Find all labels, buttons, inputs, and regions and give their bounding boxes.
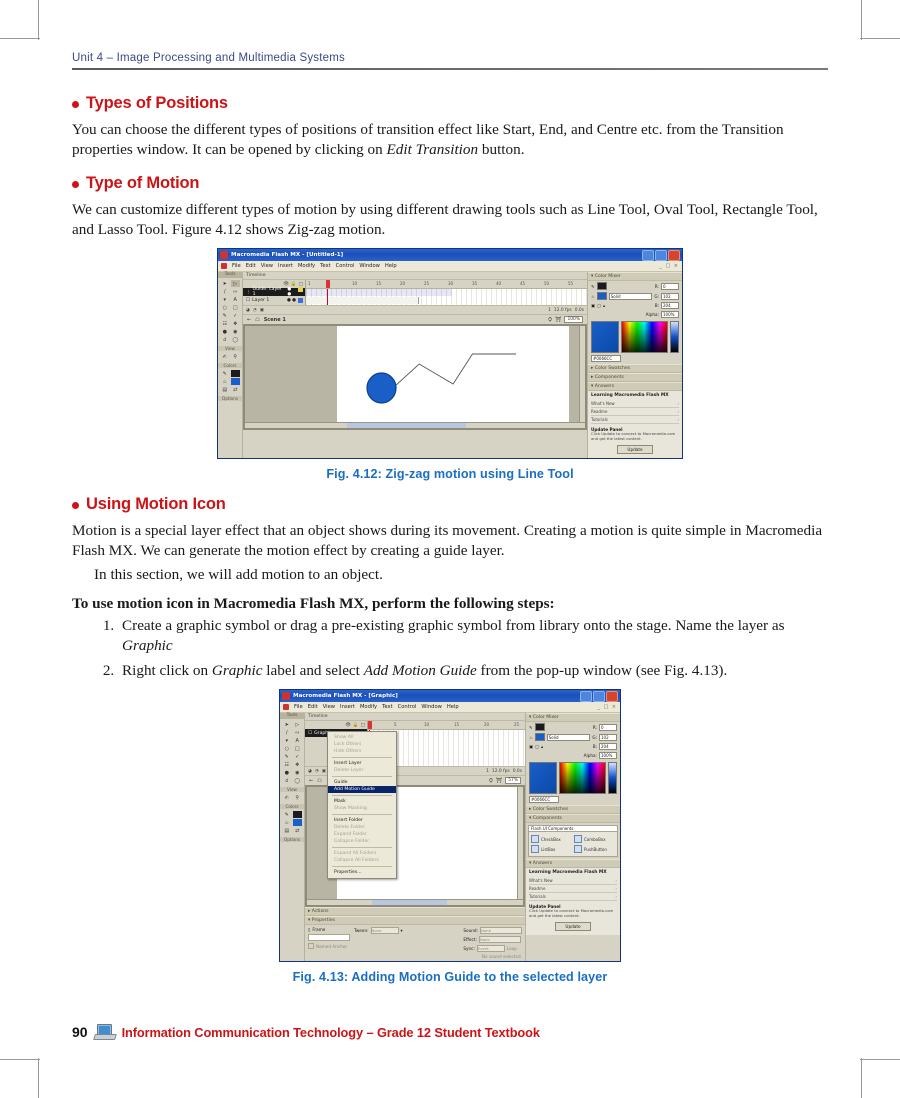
onion-skin-icon[interactable]: ◕ bbox=[246, 308, 250, 313]
answers-link-whats-new[interactable]: What's New› bbox=[591, 400, 679, 408]
context-menu-item-insert-folder[interactable]: Insert Folder bbox=[328, 817, 396, 824]
outline-icon[interactable]: □ bbox=[361, 723, 365, 728]
eyedropper-tool-icon[interactable]: ☌ bbox=[282, 777, 292, 784]
crop-mark-bottom-right-v bbox=[861, 1058, 862, 1098]
update-button[interactable]: Update bbox=[555, 922, 591, 931]
no-color-icon[interactable]: ▴ bbox=[541, 744, 543, 749]
answers-link-readme[interactable]: Readme› bbox=[591, 408, 679, 416]
paragraph-in-this-section: In this section, we will add motion to a… bbox=[72, 565, 828, 585]
mixer-options-row[interactable]: ▣ ▢ ▴ B: 204 bbox=[588, 301, 682, 310]
step-text-italic2: Add Motion Guide bbox=[364, 662, 477, 679]
menu-control[interactable]: Control bbox=[336, 263, 355, 269]
layer-name: Layer 1 bbox=[252, 298, 269, 303]
stroke-swatch-icon[interactable] bbox=[231, 370, 241, 377]
ink-bottle-tool-icon[interactable]: ● bbox=[282, 769, 292, 776]
chevron-right-icon: › bbox=[615, 878, 617, 883]
scene-bar: ← ☖ Scene 1 ⛭ ⛩ 100% bbox=[243, 314, 587, 324]
alpha-value[interactable]: 100% bbox=[599, 752, 617, 759]
frame-column[interactable]: 1 5 10 15 20 25 30 35 40 45 bbox=[306, 280, 587, 305]
zoom-level[interactable]: 57% bbox=[505, 777, 521, 784]
menu-edit[interactable]: Edit bbox=[246, 263, 256, 269]
b-value[interactable]: 204 bbox=[599, 743, 617, 750]
color-mixer-panel-header[interactable]: ▾ Color Mixer bbox=[588, 272, 682, 281]
effect-row[interactable]: Effect: None bbox=[463, 936, 522, 943]
update-button[interactable]: Update bbox=[617, 445, 653, 454]
named-anchor-row[interactable]: Named Anchor bbox=[308, 943, 350, 949]
color-tools[interactable]: ✎ ♨ ▤ ⇄ bbox=[218, 368, 242, 395]
menu-file[interactable]: File bbox=[294, 704, 303, 710]
panel-title: Answers bbox=[595, 384, 614, 389]
context-menu-item-show-all[interactable]: Show All bbox=[328, 734, 396, 741]
footer-text: Information Communication Technology – G… bbox=[122, 1025, 540, 1040]
document-icon bbox=[283, 704, 289, 710]
tools-palette: Tools ➤ ▷ / ∾ ▾ A ○ □ ✎ ✓ ☷ bbox=[218, 272, 243, 458]
section-heading-types-of-positions: Types of Positions bbox=[72, 94, 828, 113]
subselect-tool-icon[interactable]: ▷ bbox=[293, 721, 303, 728]
b-label: B: bbox=[655, 303, 659, 308]
menu-file[interactable]: File bbox=[232, 263, 241, 269]
mixer-options-row[interactable]: ▣ ▢ ▴ B: 204 bbox=[526, 742, 620, 751]
mixer-fill-row[interactable]: ♨ Solid G: 102 bbox=[588, 291, 682, 301]
answers-link-tutorials[interactable]: Tutorials› bbox=[591, 416, 679, 424]
edit-multiple-icon[interactable]: ▣ bbox=[260, 308, 264, 313]
components-grid[interactable]: CheckBox ComboBox ListBox PushButton bbox=[529, 832, 617, 856]
playhead-marker[interactable] bbox=[326, 280, 330, 288]
eye-icon[interactable]: 👁 bbox=[283, 282, 289, 287]
menu-modify[interactable]: Modify bbox=[298, 263, 315, 269]
color-mixer-panel-header[interactable]: ▾ Color Mixer bbox=[526, 713, 620, 722]
menu-view[interactable]: View bbox=[261, 263, 273, 269]
sound-column: Sound: None Effect: None Sync: Event bbox=[463, 927, 522, 959]
color-spectrum[interactable] bbox=[621, 321, 668, 353]
line-tool-icon[interactable]: / bbox=[220, 288, 230, 295]
computer-icon bbox=[94, 1024, 116, 1040]
context-menu-item-delete-layer[interactable]: Delete Layer bbox=[328, 767, 396, 774]
maximize-icon[interactable] bbox=[655, 250, 667, 261]
lock-icon[interactable]: 🔒 bbox=[291, 282, 297, 287]
maximize-icon[interactable] bbox=[593, 691, 605, 702]
fill-transform-tool-icon[interactable]: ❖ bbox=[293, 761, 303, 768]
components-panel-header[interactable]: ▾ Components bbox=[526, 814, 620, 823]
panel-title: Components bbox=[595, 375, 624, 380]
components-panel-header[interactable]: ▸ Components bbox=[588, 373, 682, 382]
r-value[interactable]: 0 bbox=[661, 283, 679, 290]
effect-select[interactable]: None bbox=[479, 936, 521, 943]
stroke-pencil-icon[interactable]: ✎ bbox=[529, 725, 533, 730]
menu-text[interactable]: Text bbox=[320, 263, 331, 269]
mixer-alpha-row[interactable]: Alpha: 100% bbox=[526, 751, 620, 760]
r-value[interactable]: 0 bbox=[599, 724, 617, 731]
stroke-color-icon[interactable]: ✎ bbox=[220, 370, 230, 377]
tween-select[interactable]: None bbox=[371, 927, 399, 934]
answers-link-tutorials[interactable]: Tutorials› bbox=[529, 893, 617, 901]
chevron-down-icon[interactable]: ▾ bbox=[401, 928, 403, 933]
menu-view[interactable]: View bbox=[323, 704, 335, 710]
g-value[interactable]: 102 bbox=[661, 293, 679, 300]
scene-icon: ☖ bbox=[317, 778, 321, 784]
zoom-tool-icon[interactable]: ⚲ bbox=[231, 353, 241, 360]
component-listbox[interactable]: ListBox bbox=[531, 845, 572, 853]
ruler-tick: 10 bbox=[352, 281, 357, 286]
chevron-right-icon: › bbox=[677, 409, 679, 414]
actions-panel-header[interactable]: ▸ Actions bbox=[305, 907, 525, 916]
color-tools[interactable]: ✎ ♨ ▤ ⇄ bbox=[280, 809, 304, 836]
scrollbar-thumb[interactable] bbox=[372, 900, 448, 905]
window-body: Tools ➤ ▷ / ∾ ▾ A ○ □ ✎ ✓ ☷ bbox=[218, 272, 682, 458]
lasso-tool-icon[interactable]: ∾ bbox=[231, 288, 241, 295]
paint-bucket-tool-icon[interactable]: ◉ bbox=[293, 769, 303, 776]
menu-text[interactable]: Text bbox=[382, 704, 393, 710]
answers-panel-body: Learning Macromedia Flash MX What's New›… bbox=[526, 868, 620, 935]
stage-vertical-scrollbar[interactable] bbox=[517, 787, 523, 899]
current-frame: 1 bbox=[548, 308, 551, 313]
fill-type-select[interactable]: Solid bbox=[609, 293, 653, 300]
zoom-level[interactable]: 100% bbox=[564, 316, 583, 323]
title-bar: Macromedia Flash MX - [Graphic] bbox=[280, 690, 620, 702]
onion-outline-icon[interactable]: ◔ bbox=[253, 308, 257, 313]
rectangle-tool-icon[interactable]: □ bbox=[231, 304, 241, 311]
context-menu-item-delete-folder[interactable]: Delete Folder bbox=[328, 824, 396, 831]
menu-separator bbox=[332, 866, 392, 867]
crop-mark-top-left-v bbox=[38, 0, 39, 40]
running-header: Unit 4 – Image Processing and Multimedia… bbox=[72, 52, 828, 70]
scrollbar-thumb[interactable] bbox=[347, 423, 466, 428]
pushbutton-icon bbox=[574, 845, 582, 853]
onion-outline-icon[interactable]: ◔ bbox=[315, 769, 319, 774]
swap-colors-icon[interactable]: ▣ bbox=[591, 303, 595, 308]
color-swatches-panel-header[interactable]: ▸ Color Swatches bbox=[526, 805, 620, 814]
answers-link-readme[interactable]: Readme› bbox=[529, 885, 617, 893]
scene-name: Scene 1 bbox=[264, 317, 286, 323]
tween-row[interactable]: Tween: None ▾ bbox=[354, 927, 403, 934]
pen-tool-icon[interactable]: ▾ bbox=[282, 737, 292, 744]
layer-context-menu[interactable]: Show All Lock Others Hide Others Insert … bbox=[327, 731, 397, 879]
frame-name-input[interactable] bbox=[308, 934, 350, 941]
right-panel-group: ▾ Color Mixer ✎ R: 0 ♨ Solid G: bbox=[587, 272, 682, 458]
context-menu-item-collapse-all-folders[interactable]: Collapse All Folders bbox=[328, 857, 396, 864]
fill-color-swatch[interactable] bbox=[597, 292, 607, 300]
stage-right-pasteboard bbox=[569, 326, 579, 422]
menu-window[interactable]: Window bbox=[359, 263, 379, 269]
color-picker-area[interactable] bbox=[526, 760, 620, 796]
fill-bucket-icon[interactable]: ♨ bbox=[591, 294, 595, 299]
view-tools[interactable]: ✍ ⚲ bbox=[218, 351, 242, 362]
frame-rate: 12.0 fps bbox=[492, 769, 510, 774]
answers-panel-header[interactable]: ▾ Answers bbox=[588, 382, 682, 391]
pencil-tool-icon[interactable]: ✎ bbox=[220, 312, 230, 319]
edit-scene-icon[interactable]: ⛭ bbox=[489, 778, 493, 784]
arrow-tool-icon[interactable]: ➤ bbox=[282, 721, 292, 728]
tool-grid[interactable]: ➤ ▷ / ∾ ▾ A ○ □ ✎ ✓ ☷ ❖ ● bbox=[218, 278, 242, 345]
current-color-preview bbox=[591, 321, 619, 353]
layer-toggles[interactable]: ● ● bbox=[287, 287, 305, 297]
edit-symbol-icon[interactable]: ⛩ bbox=[555, 317, 561, 323]
fill-bucket-icon[interactable]: ♨ bbox=[529, 735, 533, 740]
minimize-icon[interactable] bbox=[580, 691, 592, 702]
context-menu-item-collapse-folder[interactable]: Collapse Folder bbox=[328, 838, 396, 845]
context-menu-item-lock-others[interactable]: Lock Others bbox=[328, 741, 396, 748]
chevron-right-icon: › bbox=[677, 401, 679, 406]
paragraph-type-of-motion: We can customize different types of moti… bbox=[72, 200, 828, 240]
fill-color-icon[interactable]: ♨ bbox=[282, 819, 292, 826]
context-menu-item-expand-all-folders[interactable]: Expand All Folders bbox=[328, 850, 396, 857]
stage-vertical-scrollbar[interactable] bbox=[579, 326, 585, 422]
edit-scene-icon[interactable]: ⛭ bbox=[548, 317, 552, 323]
eraser-tool-icon[interactable]: ◯ bbox=[231, 336, 241, 343]
oval-tool-icon[interactable]: ○ bbox=[282, 745, 292, 752]
mixer-stroke-row[interactable]: ✎ R: 0 bbox=[588, 281, 682, 291]
lock-icon[interactable]: 🔒 bbox=[353, 723, 359, 728]
panel-title: Properties bbox=[312, 918, 335, 923]
text-tool-icon[interactable]: A bbox=[231, 296, 241, 303]
ruler-tick: 55 bbox=[568, 281, 573, 286]
free-transform-tool-icon[interactable]: ☷ bbox=[220, 320, 230, 327]
step-text-mid: label and select bbox=[262, 662, 363, 679]
line-tool-icon[interactable]: / bbox=[282, 729, 292, 736]
menu-control[interactable]: Control bbox=[398, 704, 417, 710]
swap-colors-icon[interactable]: ▣ bbox=[529, 744, 533, 749]
brush-tool-icon[interactable]: ✓ bbox=[231, 312, 241, 319]
menu-window[interactable]: Window bbox=[421, 704, 441, 710]
color-spectrum[interactable] bbox=[559, 762, 606, 794]
context-menu-item-expand-folder[interactable]: Expand Folder bbox=[328, 831, 396, 838]
document-icon bbox=[221, 263, 227, 269]
context-menu-item-hide-others[interactable]: Hide Others bbox=[328, 748, 396, 755]
context-menu-item-properties[interactable]: Properties... bbox=[328, 869, 396, 876]
menu-separator bbox=[332, 847, 392, 848]
header-rule bbox=[72, 68, 828, 70]
alpha-label: Alpha: bbox=[584, 753, 597, 758]
brightness-bar[interactable] bbox=[670, 321, 679, 353]
mixer-fill-row[interactable]: ♨ Solid G: 102 bbox=[526, 732, 620, 742]
frame-ruler[interactable]: 1 5 10 15 20 25 30 bbox=[368, 721, 525, 730]
frames-area[interactable] bbox=[306, 289, 587, 305]
figure-4-12-caption: Fig. 4.12: Zig-zag motion using Line Too… bbox=[72, 467, 828, 481]
menu-edit[interactable]: Edit bbox=[308, 704, 318, 710]
sound-select[interactable]: None bbox=[480, 927, 522, 934]
frame-label: Frame bbox=[312, 927, 325, 932]
close-icon[interactable] bbox=[606, 691, 618, 702]
subselect-tool-icon[interactable]: ▷ bbox=[231, 280, 241, 287]
crop-mark-top-right-v bbox=[861, 0, 862, 40]
sound-label: Sound: bbox=[463, 928, 478, 933]
panel-title: Color Mixer bbox=[533, 715, 559, 720]
stage-horizontal-scrollbar[interactable] bbox=[245, 422, 585, 428]
panel-title: Components bbox=[533, 816, 562, 821]
component-pushbutton[interactable]: PushButton bbox=[574, 845, 615, 853]
layer1-frames[interactable] bbox=[306, 297, 419, 304]
rectangle-tool-icon[interactable]: □ bbox=[293, 745, 303, 752]
layer-toggles[interactable]: ● ● bbox=[287, 298, 305, 303]
layer-row-guide[interactable]: ⋮ Guide: Layer 1 ● ● bbox=[243, 288, 305, 296]
heading-text: Type of Motion bbox=[86, 174, 199, 193]
color-swatches-panel-header[interactable]: ▸ Color Swatches bbox=[588, 364, 682, 373]
fill-color-swatch[interactable] bbox=[535, 733, 545, 741]
stroke-pencil-icon[interactable]: ✎ bbox=[591, 284, 595, 289]
hand-tool-icon[interactable]: ✍ bbox=[220, 353, 230, 360]
fill-color-icon[interactable]: ♨ bbox=[220, 378, 230, 385]
back-arrow-icon[interactable]: ← bbox=[309, 778, 313, 784]
color-picker-area[interactable] bbox=[588, 319, 682, 355]
pen-tool-icon[interactable]: ▾ bbox=[220, 296, 230, 303]
default-colors-icon[interactable]: ▢ bbox=[535, 744, 539, 749]
stroke-color-swatch[interactable] bbox=[535, 723, 545, 731]
hand-tool-icon[interactable]: ✍ bbox=[282, 794, 292, 801]
sound-row[interactable]: Sound: None bbox=[463, 927, 522, 934]
window-buttons[interactable] bbox=[580, 691, 618, 702]
paint-bucket-tool-icon[interactable]: ◉ bbox=[231, 328, 241, 335]
fill-type-select[interactable]: Solid bbox=[547, 734, 591, 741]
step-text-post: from the pop-up window (see Fig. 4.13). bbox=[477, 662, 728, 679]
menu-insert[interactable]: Insert bbox=[278, 263, 293, 269]
doc-window-buttons[interactable]: _ □ × bbox=[659, 263, 679, 269]
stroke-color-swatch[interactable] bbox=[597, 282, 607, 290]
menu-help[interactable]: Help bbox=[385, 263, 397, 269]
mixer-alpha-row[interactable]: Alpha: 100% bbox=[588, 310, 682, 319]
lasso-tool-icon[interactable]: ∾ bbox=[293, 729, 303, 736]
layer-icon: ☐ bbox=[246, 298, 250, 303]
black-white-icon[interactable]: ▤ bbox=[220, 386, 230, 393]
stage-horizontal-scrollbar[interactable] bbox=[307, 899, 523, 905]
ink-bottle-tool-icon[interactable]: ● bbox=[220, 328, 230, 335]
no-color-icon[interactable]: ▴ bbox=[603, 303, 605, 308]
menu-insert[interactable]: Insert bbox=[340, 704, 355, 710]
arrow-tool-icon[interactable]: ➤ bbox=[220, 280, 230, 287]
timeline-panel-label: Timeline bbox=[305, 713, 525, 721]
context-menu-item-insert-layer[interactable]: Insert Layer bbox=[328, 760, 396, 767]
stroke-swatch-icon[interactable] bbox=[293, 811, 303, 818]
free-transform-tool-icon[interactable]: ☷ bbox=[282, 761, 292, 768]
answers-panel-header[interactable]: ▾ Answers bbox=[526, 859, 620, 868]
edit-symbol-icon[interactable]: ⛩ bbox=[496, 778, 502, 784]
fill-transform-tool-icon[interactable]: ❖ bbox=[231, 320, 241, 327]
eraser-tool-icon[interactable]: ◯ bbox=[293, 777, 303, 784]
g-label: G: bbox=[654, 294, 659, 299]
minimize-icon[interactable] bbox=[642, 250, 654, 261]
fill-swatch-icon[interactable] bbox=[293, 819, 303, 826]
sync-row[interactable]: Sync: Event Loop bbox=[463, 945, 522, 952]
flash-app-icon bbox=[282, 692, 290, 700]
elapsed-time: 0.0s bbox=[513, 769, 522, 774]
named-anchor-checkbox[interactable] bbox=[308, 943, 314, 949]
running-head-text: Unit 4 – Image Processing and Multimedia… bbox=[72, 52, 828, 64]
stage[interactable] bbox=[245, 326, 585, 422]
onion-skin-icon[interactable]: ◕ bbox=[308, 769, 312, 774]
zigzag-line bbox=[395, 354, 516, 386]
window-title: Macromedia Flash MX - [Graphic] bbox=[293, 693, 398, 699]
list-item: Right click on Graphic label and select … bbox=[118, 661, 828, 681]
steps-list: Create a graphic symbol or drag a pre-ex… bbox=[72, 616, 828, 681]
answers-link-whats-new[interactable]: What's New› bbox=[529, 877, 617, 885]
alpha-value[interactable]: 100% bbox=[661, 311, 679, 318]
hex-value-field[interactable]: #0066CC bbox=[529, 796, 559, 803]
frame-props-column: ▯ Frame Named Anchor bbox=[308, 927, 350, 959]
eyedropper-tool-icon[interactable]: ☌ bbox=[220, 336, 230, 343]
alpha-label: Alpha: bbox=[646, 312, 659, 317]
brightness-bar[interactable] bbox=[608, 762, 617, 794]
context-menu-item-guide[interactable]: Guide bbox=[328, 779, 396, 786]
brush-tool-icon[interactable]: ✓ bbox=[293, 753, 303, 760]
mixer-stroke-row[interactable]: ✎ R: 0 bbox=[526, 722, 620, 732]
black-white-icon[interactable]: ▤ bbox=[282, 827, 292, 834]
sync-select[interactable]: Event bbox=[477, 945, 505, 952]
stroke-color-icon[interactable]: ✎ bbox=[282, 811, 292, 818]
page-number: 90 bbox=[72, 1024, 88, 1040]
panel-title: Answers bbox=[533, 861, 552, 866]
ruler-tick: 45 bbox=[520, 281, 525, 286]
paragraph-types-of-positions: You can choose the different types of po… bbox=[72, 120, 828, 160]
tool-grid[interactable]: ➤ ▷ / ∾ ▾ A ○ □ ✎ ✓ ☷ ❖ ● bbox=[280, 719, 304, 786]
update-panel-desc: Click Update to connect to Macromedia.co… bbox=[529, 909, 617, 919]
eye-icon[interactable]: 👁 bbox=[345, 723, 351, 728]
doc-window-buttons[interactable]: _ □ × bbox=[597, 704, 617, 710]
options-section-label: Options bbox=[218, 396, 242, 401]
no-sound-row: No sound selected. bbox=[463, 954, 522, 959]
figure-4-13-container: Macromedia Flash MX - [Graphic] File Edi… bbox=[72, 689, 828, 962]
chevron-right-icon: › bbox=[615, 894, 617, 899]
zoom-tool-icon[interactable]: ⚲ bbox=[293, 794, 303, 801]
edit-multiple-icon[interactable]: ▣ bbox=[322, 769, 326, 774]
window-buttons[interactable] bbox=[642, 250, 680, 261]
context-menu-item-show-masking[interactable]: Show Masking bbox=[328, 805, 396, 812]
text-tool-icon[interactable]: A bbox=[293, 737, 303, 744]
view-tools[interactable]: ✍ ⚲ bbox=[280, 792, 304, 803]
outline-icon[interactable]: □ bbox=[299, 282, 303, 287]
component-combobox[interactable]: ComboBox bbox=[574, 835, 615, 843]
panel-title: Actions bbox=[312, 909, 329, 914]
b-value[interactable]: 204 bbox=[661, 302, 679, 309]
swap-colors-icon[interactable]: ⇄ bbox=[293, 827, 303, 834]
hex-value-field[interactable]: #0066CC bbox=[591, 355, 621, 362]
scene-bar-right[interactable]: ⛭ ⛩ 100% bbox=[548, 316, 583, 323]
timeline-footer[interactable]: ◕ ◔ ▣ 1 12.0 fps 0.0s bbox=[243, 305, 587, 314]
tween-label: Tween: bbox=[354, 928, 369, 933]
oval-tool-icon[interactable]: ○ bbox=[220, 304, 230, 311]
default-colors-icon[interactable]: ▢ bbox=[597, 303, 601, 308]
layer-icon: ☐ bbox=[308, 731, 312, 736]
crop-mark-bottom-left-h bbox=[0, 1059, 40, 1060]
playhead-marker[interactable] bbox=[368, 721, 372, 729]
fill-swatch-icon[interactable] bbox=[231, 378, 241, 385]
menu-separator bbox=[332, 814, 392, 815]
pencil-tool-icon[interactable]: ✎ bbox=[282, 753, 292, 760]
zigzag-drawing bbox=[337, 326, 569, 422]
ruler-tick: 25 bbox=[514, 722, 519, 727]
layer-row-layer1[interactable]: ☐ Layer 1 ● ● bbox=[243, 296, 305, 304]
scene-bar-right[interactable]: ⛭ ⛩ 57% bbox=[489, 777, 521, 784]
frame-ruler[interactable]: 1 5 10 15 20 25 30 35 40 45 bbox=[306, 280, 587, 289]
g-value[interactable]: 102 bbox=[599, 734, 617, 741]
swap-colors-icon[interactable]: ⇄ bbox=[231, 386, 241, 393]
menu-bar[interactable]: File Edit View Insert Modify Text Contro… bbox=[280, 702, 620, 713]
back-arrow-icon[interactable]: ← bbox=[247, 317, 251, 323]
ruler-tick: 20 bbox=[400, 281, 405, 286]
menu-bar[interactable]: File Edit View Insert Modify Text Contro… bbox=[218, 261, 682, 272]
close-icon[interactable] bbox=[668, 250, 680, 261]
properties-panel-header[interactable]: ▾ Properties bbox=[305, 916, 525, 925]
checkbox-icon bbox=[531, 835, 539, 843]
menu-modify[interactable]: Modify bbox=[360, 704, 377, 710]
stage-canvas[interactable] bbox=[337, 326, 569, 422]
loop-label: Loop bbox=[507, 946, 517, 951]
bullet-icon bbox=[72, 502, 79, 509]
frame-name-row[interactable] bbox=[308, 934, 350, 941]
combobox-icon bbox=[574, 835, 582, 843]
context-menu-item-mask[interactable]: Mask bbox=[328, 798, 396, 805]
component-checkbox[interactable]: CheckBox bbox=[531, 835, 572, 843]
menu-help[interactable]: Help bbox=[447, 704, 459, 710]
context-menu-item-add-motion-guide[interactable]: Add Motion Guide bbox=[328, 786, 396, 793]
